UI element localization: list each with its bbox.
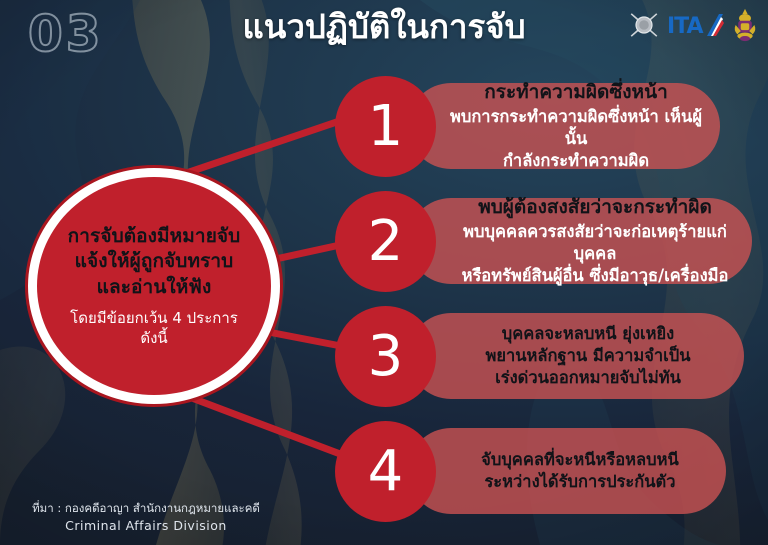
item-body-line-2: กำลังกระทำความผิด — [448, 150, 704, 172]
item-body-line-1: พบบุคคลควรสงสัยว่าจะก่อเหตุร้ายแก่บุคคล — [448, 221, 742, 265]
hub-main-line-1: การจับต้องมีหมายจับ — [68, 224, 241, 249]
central-hub-circle: การจับต้องมีหมายจับ แจ้งให้ผู้ถูกจับทราบ… — [28, 168, 280, 404]
svg-text:ITA: ITA — [667, 14, 703, 38]
item-body-line-2: ระหว่างได้รับการประกันตัว — [481, 471, 679, 493]
garuda-emblem-logo — [732, 8, 758, 42]
item-pill: บุคคลจะหลบหนี ยุ่งเหยิง พยานหลักฐาน มีคว… — [408, 313, 744, 399]
item-pill: กระทำความผิดซึ่งหน้า พบการกระทำความผิดซึ… — [408, 83, 720, 169]
logo-group: ITA — [628, 5, 758, 45]
item-number-badge: 1 — [335, 76, 436, 177]
item-number-badge: 4 — [335, 421, 436, 522]
ita-logo: ITA — [667, 10, 725, 40]
item-pill: จับบุคคลที่จะหนีหรือหลบหนี ระหว่างได้รับ… — [408, 428, 726, 514]
hub-main-line-2: แจ้งให้ผู้ถูกจับทราบ — [68, 249, 241, 274]
hub-sub-line-2: ดังนี้ — [70, 329, 238, 349]
item-body-line-1: จับบุคคลที่จะหนีหรือหลบหนี — [481, 449, 679, 471]
hub-sub-text: โดยมีข้อยกเว้น 4 ประการ ดังนี้ — [70, 309, 238, 348]
hub-sub-line-1: โดยมีข้อยกเว้น 4 ประการ — [70, 309, 238, 329]
item-body-line-2: หรือทรัพย์สินผู้อื่น ซึ่งมีอาวุธ/เครื่อง… — [448, 265, 742, 287]
item-body: พบการกระทำความผิดซึ่งหน้า เห็นผู้นั้น กำ… — [448, 106, 704, 172]
item-title: กระทำความผิดซึ่งหน้า — [484, 80, 668, 105]
hub-main-line-3: และอ่านให้ฟัง — [68, 275, 241, 300]
item-body-line-3: เร่งด่วนออกหมายจับไม่ทัน — [485, 367, 690, 389]
item-pill: พบผู้ต้องสงสัยว่าจะกระทำผิด พบบุคคลควรสง… — [408, 198, 752, 284]
item-body: จับบุคคลที่จะหนีหรือหลบหนี ระหว่างได้รับ… — [481, 449, 679, 493]
item-body-line-1: พบการกระทำความผิดซึ่งหน้า เห็นผู้นั้น — [448, 106, 704, 150]
item-number-badge: 2 — [335, 191, 436, 292]
item-body-line-2: พยานหลักฐาน มีความจำเป็น — [485, 345, 690, 367]
item-body-line-1: บุคคลจะหลบหนี ยุ่งเหยิง — [485, 323, 690, 345]
item-body: พบบุคคลควรสงสัยว่าจะก่อเหตุร้ายแก่บุคคล … — [448, 221, 742, 287]
infographic-canvas: 03 แนวปฏิบัติในการจับ ITA — [0, 0, 768, 545]
item-title: พบผู้ต้องสงสัยว่าจะกระทำผิด — [478, 195, 712, 220]
hub-main-text: การจับต้องมีหมายจับ แจ้งให้ผู้ถูกจับทราบ… — [68, 224, 241, 300]
police-seal-logo — [628, 9, 660, 41]
footer-source-thai: ที่มา : กองคดีอาญา สำนักงานกฎหมายและคดี — [0, 500, 292, 517]
item-body: บุคคลจะหลบหนี ยุ่งเหยิง พยานหลักฐาน มีคว… — [485, 323, 690, 389]
footer-source-english: Criminal Affairs Division — [0, 517, 292, 535]
footer-source: ที่มา : กองคดีอาญา สำนักงานกฎหมายและคดี … — [0, 500, 292, 535]
item-number-badge: 3 — [335, 306, 436, 407]
